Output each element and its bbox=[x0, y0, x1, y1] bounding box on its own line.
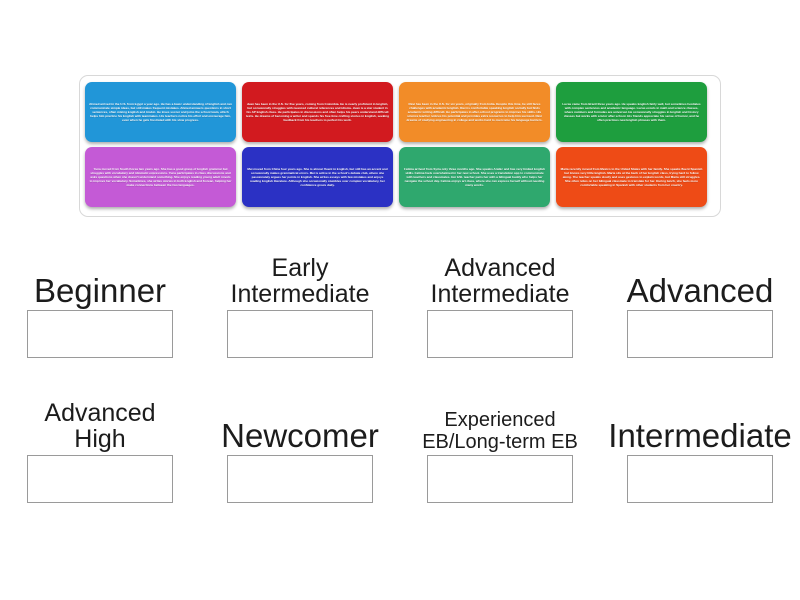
dropzone[interactable] bbox=[627, 310, 773, 358]
answer-slot: AdvancedIntermediate bbox=[400, 232, 600, 377]
student-card-text: Mei moved from China four years ago. She… bbox=[246, 167, 389, 188]
student-card-text: Juan has been in the U.S. for five years… bbox=[246, 102, 389, 123]
slot-label: Newcomer bbox=[207, 379, 393, 455]
student-card-fatima[interactable]: Fatima arrived from Syria only three mon… bbox=[399, 147, 550, 207]
dropzone[interactable] bbox=[427, 310, 573, 358]
answer-slot: Beginner bbox=[0, 232, 200, 377]
student-card-text: Ahmed arrived in the U.S. from Egypt a y… bbox=[89, 102, 232, 123]
student-card-juan[interactable]: Juan has been in the U.S. for five years… bbox=[242, 82, 393, 142]
dropzone[interactable] bbox=[627, 455, 773, 503]
answer-grid: BeginnerEarlyIntermediateAdvancedInterme… bbox=[0, 232, 800, 522]
student-card-ravi[interactable]: Ravi has been in the U.S. for six years,… bbox=[399, 82, 550, 142]
slot-label: EarlyIntermediate bbox=[207, 234, 393, 310]
answer-slot: Newcomer bbox=[200, 377, 400, 522]
dropzone[interactable] bbox=[227, 455, 373, 503]
slot-label: AdvancedHigh bbox=[7, 379, 193, 455]
answer-slot: ExperiencedEB/Long-term EB bbox=[400, 377, 600, 522]
student-card-ahmed[interactable]: Ahmed arrived in the U.S. from Egypt a y… bbox=[85, 82, 236, 142]
student-card-text: Yuna moved from South Korea two years ag… bbox=[89, 167, 232, 188]
student-card-text: Fatima arrived from Syria only three mon… bbox=[403, 167, 546, 188]
student-card-yuna[interactable]: Yuna moved from South Korea two years ag… bbox=[85, 147, 236, 207]
answer-slot: Intermediate bbox=[600, 377, 800, 522]
dropzone[interactable] bbox=[227, 310, 373, 358]
student-card-mei[interactable]: Mei moved from China four years ago. She… bbox=[242, 147, 393, 207]
student-card-maria[interactable]: Maria recently moved from Mexico to the … bbox=[556, 147, 707, 207]
slot-label: Intermediate bbox=[607, 379, 793, 455]
slot-label: AdvancedIntermediate bbox=[407, 234, 593, 310]
answer-slot: AdvancedHigh bbox=[0, 377, 200, 522]
dropzone[interactable] bbox=[27, 310, 173, 358]
dropzone[interactable] bbox=[427, 455, 573, 503]
student-card-text: Ravi has been in the U.S. for six years,… bbox=[403, 102, 546, 123]
slot-label: Beginner bbox=[7, 234, 193, 310]
student-card-lucas[interactable]: Lucas came from Brazil three years ago. … bbox=[556, 82, 707, 142]
card-tray: Ahmed arrived in the U.S. from Egypt a y… bbox=[79, 75, 721, 217]
student-card-text: Lucas came from Brazil three years ago. … bbox=[560, 102, 703, 123]
student-card-text: Maria recently moved from Mexico to the … bbox=[560, 167, 703, 188]
dropzone[interactable] bbox=[27, 455, 173, 503]
answer-slot: EarlyIntermediate bbox=[200, 232, 400, 377]
answer-slot: Advanced bbox=[600, 232, 800, 377]
slot-label: ExperiencedEB/Long-term EB bbox=[407, 379, 593, 455]
slot-label: Advanced bbox=[607, 234, 793, 310]
